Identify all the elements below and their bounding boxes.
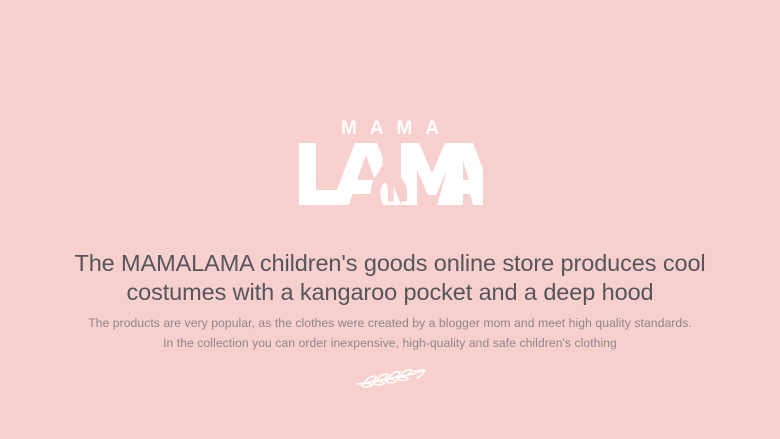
page-subtitle: The products are very popular, as the cl…: [0, 313, 780, 353]
page-title: The MAMALAMA children's goods online sto…: [0, 249, 780, 307]
brand-logo: MAMA: [0, 118, 780, 205]
page-title-line-2: costumes with a kangaroo pocket and a de…: [0, 278, 780, 307]
page-title-line-1: The MAMALAMA children's goods online sto…: [0, 249, 780, 278]
page-subtitle-line-2: In the collection you can order inexpens…: [0, 333, 780, 353]
hero-section: MAMA: [0, 0, 780, 439]
logo-wordmark-mama: MAMA: [328, 118, 452, 140]
page-subtitle-line-1: The products are very popular, as the cl…: [0, 313, 780, 333]
logo-wordmark-lama: [297, 143, 483, 205]
leafy-branch-divider-icon: [0, 367, 780, 389]
